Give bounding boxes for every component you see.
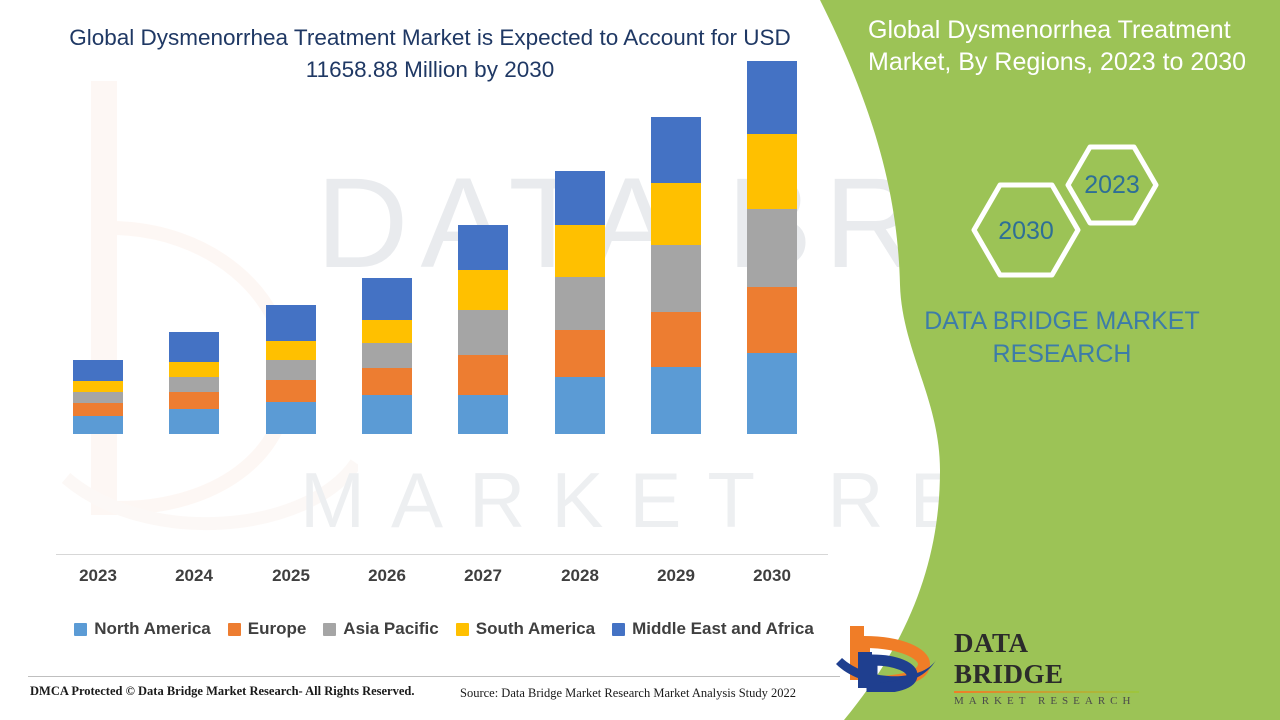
hexagon-2023-label: 2023 [1084, 171, 1140, 199]
logo-main-text: DATA BRIDGE [954, 628, 1139, 690]
bar-segment-asia-pacific [362, 343, 412, 368]
chart-legend: North America Europe Asia Pacific South … [56, 616, 832, 642]
x-tick-label-2023: 2023 [53, 566, 143, 586]
bar-segment-middle-east-and-africa [458, 225, 508, 270]
legend-swatch-icon [456, 623, 469, 636]
x-tick-label-2025: 2025 [246, 566, 336, 586]
brand-panel: Global Dysmenorrhea Treatment Market, By… [820, 0, 1280, 720]
bar-segment-asia-pacific [266, 360, 316, 380]
bar-segment-asia-pacific [458, 310, 508, 355]
bar-segment-asia-pacific [555, 277, 605, 330]
bar-segment-asia-pacific [73, 392, 123, 403]
bar-segment-south-america [458, 270, 508, 310]
bar-segment-europe [169, 392, 219, 409]
logo-mark-icon [832, 620, 942, 692]
brand-name-line1: DATA BRIDGE MARKET [924, 307, 1200, 335]
bar-segment-europe [651, 312, 701, 367]
bar-segment-north-america [555, 377, 605, 434]
hexagon-2030-label: 2030 [998, 217, 1054, 245]
bar-segment-asia-pacific [651, 245, 701, 312]
x-tick-label-2029: 2029 [631, 566, 721, 586]
x-tick-label-2030: 2030 [727, 566, 817, 586]
legend-swatch-icon [228, 623, 241, 636]
bar-segment-middle-east-and-africa [651, 117, 701, 183]
brand-name-line2: RESEARCH [993, 340, 1132, 368]
bar-segment-north-america [73, 416, 123, 434]
bar-segment-south-america [266, 341, 316, 360]
bar-segment-middle-east-and-africa [747, 61, 797, 134]
bar-segment-middle-east-and-africa [266, 305, 316, 341]
bar-segment-europe [747, 287, 797, 353]
x-axis-line [56, 554, 828, 555]
bar-segment-north-america [266, 402, 316, 434]
bar-stack-2024[interactable] [169, 34, 219, 434]
chart-plot-area: 2023 2024 2025 2026 2027 2028 2029 2030 [0, 0, 860, 600]
legend-item-north-america[interactable]: North America [74, 619, 211, 639]
x-tick-label-2028: 2028 [535, 566, 625, 586]
footer-divider [28, 676, 840, 677]
legend-item-asia-pacific[interactable]: Asia Pacific [323, 619, 438, 639]
logo-sub-text: MARKET RESEARCH [954, 695, 1139, 707]
footer-source: Source: Data Bridge Market Research Mark… [460, 686, 796, 701]
bar-segment-europe [362, 368, 412, 395]
bar-segment-south-america [73, 381, 123, 392]
legend-swatch-icon [74, 623, 87, 636]
legend-label: South America [476, 619, 595, 639]
legend-swatch-icon [323, 623, 336, 636]
logo-divider [954, 691, 1139, 693]
bar-segment-europe [458, 355, 508, 395]
hexagon-2023: 2023 [1068, 147, 1156, 223]
bar-stack-2028[interactable] [555, 34, 605, 434]
panel-title: Global Dysmenorrhea Treatment Market, By… [868, 14, 1268, 78]
legend-label: Europe [248, 619, 307, 639]
bar-stack-2023[interactable] [73, 34, 123, 434]
bar-segment-europe [73, 403, 123, 416]
hexagon-group: 2023 2030 [938, 135, 1198, 305]
bar-segment-asia-pacific [747, 209, 797, 287]
logo-wordmark: DATA BRIDGE MARKET RESEARCH [954, 628, 1139, 707]
legend-label: North America [94, 619, 211, 639]
legend-swatch-icon [612, 623, 625, 636]
bar-segment-south-america [555, 225, 605, 277]
bar-segment-europe [555, 330, 605, 377]
bar-segment-north-america [458, 395, 508, 434]
bar-stack-2027[interactable] [458, 34, 508, 434]
x-tick-label-2027: 2027 [438, 566, 528, 586]
footer-copyright: DMCA Protected © Data Bridge Market Rese… [30, 684, 415, 699]
bar-segment-south-america [362, 320, 412, 343]
bar-segment-south-america [169, 362, 219, 377]
bar-stack-2029[interactable] [651, 34, 701, 434]
bar-segment-europe [266, 380, 316, 402]
bar-segment-middle-east-and-africa [555, 171, 605, 225]
brand-name: DATA BRIDGE MARKET RESEARCH [892, 305, 1232, 370]
bar-segment-north-america [651, 367, 701, 434]
bar-segment-north-america [362, 395, 412, 434]
bar-segment-asia-pacific [169, 377, 219, 392]
bar-segment-middle-east-and-africa [73, 360, 123, 381]
bar-segment-middle-east-and-africa [362, 278, 412, 320]
data-bridge-logo: DATA BRIDGE MARKET RESEARCH [832, 620, 1132, 700]
bar-stack-2026[interactable] [362, 34, 412, 434]
legend-item-europe[interactable]: Europe [228, 619, 307, 639]
hexagon-2030: 2030 [974, 185, 1078, 275]
legend-item-middle-east-and-africa[interactable]: Middle East and Africa [612, 619, 814, 639]
legend-label: Middle East and Africa [632, 619, 814, 639]
x-tick-label-2026: 2026 [342, 566, 432, 586]
bar-segment-south-america [651, 183, 701, 245]
infographic-canvas: DATA BRIDGE MARKET RESEARCH Global Dysme… [0, 0, 1280, 720]
bar-segment-middle-east-and-africa [169, 332, 219, 362]
bar-segment-south-america [747, 134, 797, 209]
bar-segment-north-america [747, 353, 797, 434]
legend-item-south-america[interactable]: South America [456, 619, 595, 639]
bar-segment-north-america [169, 409, 219, 434]
bar-stack-2025[interactable] [266, 34, 316, 434]
legend-label: Asia Pacific [343, 619, 438, 639]
brand-panel-content: Global Dysmenorrhea Treatment Market, By… [820, 0, 1280, 720]
bar-stack-2030[interactable] [747, 34, 797, 434]
x-tick-label-2024: 2024 [149, 566, 239, 586]
